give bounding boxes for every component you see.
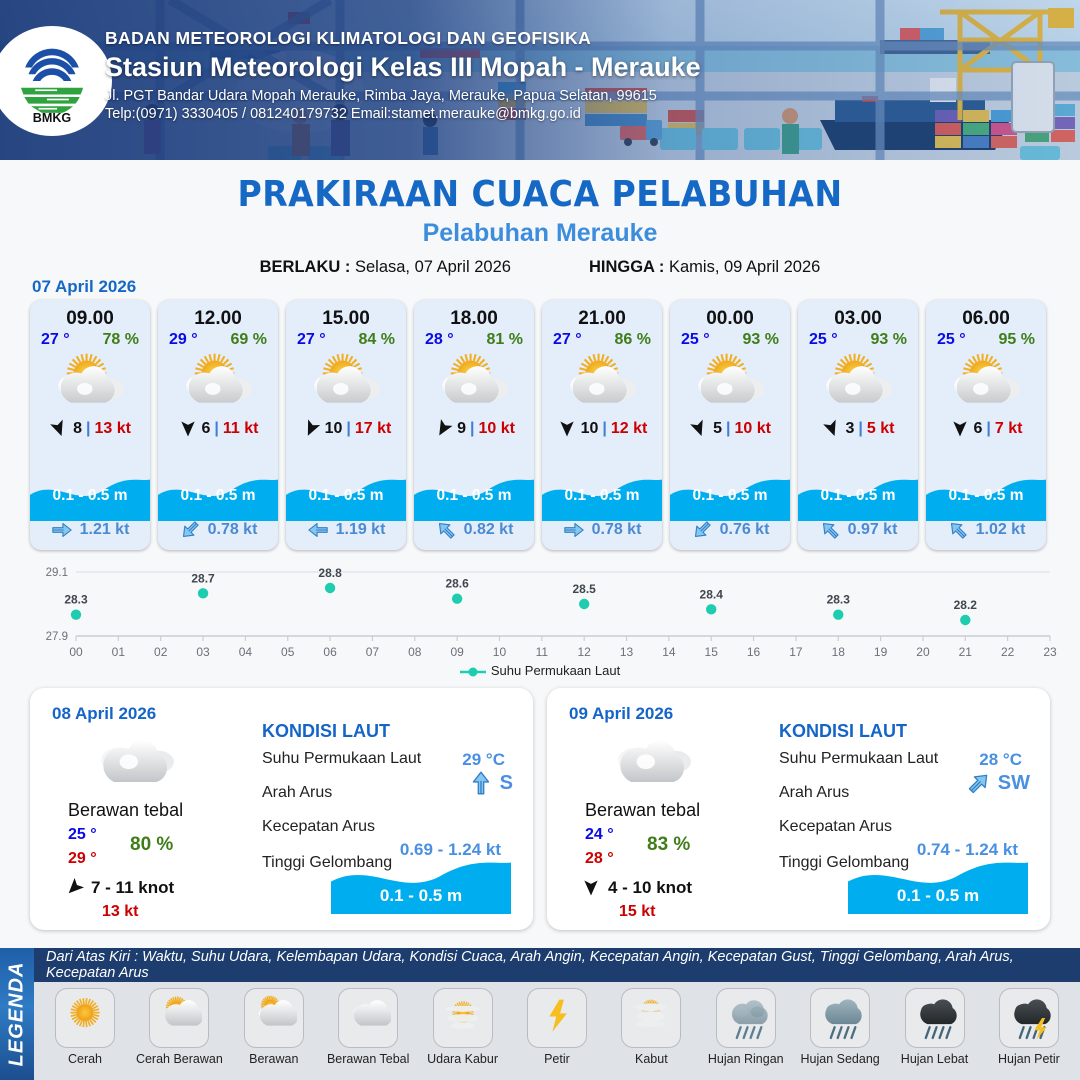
card-humidity: 78 % <box>103 331 139 349</box>
header-text-block: BADAN METEOROLOGI KLIMATOLOGI DAN GEOFIS… <box>105 28 701 122</box>
bmkg-logo-icon: BMKG <box>10 39 94 123</box>
card-gust: 11 kt <box>223 420 259 438</box>
daily-temp-max: 29 ° <box>68 850 97 868</box>
daily-panel: 08 April 2026 Berawan tebal 25 ° 29 ° 80… <box>30 688 533 930</box>
card-time: 12.00 <box>158 308 278 330</box>
svg-text:10: 10 <box>493 645 507 659</box>
chart-legend: Suhu Permukaan Laut <box>0 663 1080 678</box>
svg-text:28.3: 28.3 <box>64 593 88 607</box>
card-current-speed: 0.78 kt <box>208 521 258 539</box>
legend-item-label: Berawan Tebal <box>323 1052 413 1066</box>
card-wind-row: 6 | 11 kt <box>158 418 278 440</box>
legend-sidebar: LEGENDA <box>0 948 34 1080</box>
daily-wind-row: 4 - 10 knot <box>581 878 692 898</box>
current-speed-value: 0.69 - 1.24 kt <box>400 840 501 860</box>
card-current-speed: 1.02 kt <box>976 521 1026 539</box>
wind-direction-icon <box>950 419 970 439</box>
card-gust: 12 kt <box>611 420 647 438</box>
card-temperature: 27 ° <box>297 331 326 349</box>
hingga-label: HINGGA : <box>589 258 664 276</box>
current-direction-icon <box>51 519 73 541</box>
cerah-berawan-icon <box>47 351 133 413</box>
forecast-card: 21.00 27 ° 86 % 10 | 12 kt 0.1 - 0.5 m <box>542 300 662 550</box>
legend-icon-box <box>149 988 209 1048</box>
card-temp-hum-row: 25 ° 95 % <box>926 330 1046 349</box>
forecast-card: 03.00 25 ° 93 % 3 | 5 kt 0.1 - 0.5 m <box>798 300 918 550</box>
card-time: 06.00 <box>926 308 1046 330</box>
legend-item-label: Hujan Ringan <box>701 1052 791 1066</box>
card-current-row: 0.78 kt <box>158 519 278 541</box>
sst-chart: 29.127.900010203040506070809101112131415… <box>20 558 1060 678</box>
wind-direction-icon <box>178 419 198 439</box>
svg-text:11: 11 <box>536 645 549 659</box>
legend-item-label: Cerah Berawan <box>134 1052 224 1066</box>
svg-text:16: 16 <box>747 645 761 659</box>
current-direction-label: Arah Arus <box>262 784 332 802</box>
svg-text:15: 15 <box>705 645 719 659</box>
daily-date: 08 April 2026 <box>52 704 156 724</box>
current-speed-value: 0.74 - 1.24 kt <box>917 840 1018 860</box>
svg-text:12: 12 <box>577 645 591 659</box>
legend-item-label: Hujan Lebat <box>890 1052 980 1066</box>
card-wave-height: 0.1 - 0.5 m <box>286 487 406 505</box>
card-humidity: 84 % <box>359 331 395 349</box>
legend-item-label: Hujan Sedang <box>795 1052 885 1066</box>
berlaku-label: BERLAKU : <box>260 258 351 276</box>
page-subtitle: Pelabuhan Merauke <box>0 219 1080 248</box>
moderate-rain-icon <box>817 995 863 1041</box>
current-direction-icon <box>174 514 205 545</box>
card-separator: | <box>470 420 474 438</box>
svg-text:03: 03 <box>196 645 210 659</box>
svg-text:28.3: 28.3 <box>827 593 851 607</box>
cerah-berawan-icon <box>943 351 1029 413</box>
legend-icon-box <box>999 988 1059 1048</box>
title-block: PRAKIRAAN CUACA PELABUHAN Pelabuhan Mera… <box>0 160 1080 277</box>
series-marker-icon <box>460 666 486 678</box>
daily-weather-icon <box>609 736 701 798</box>
svg-text:01: 01 <box>112 645 126 659</box>
station-name: Stasiun Meteorologi Kelas III Mopah - Me… <box>105 52 701 83</box>
legend-icon-box <box>905 988 965 1048</box>
card-wind-row: 3 | 5 kt <box>798 418 918 440</box>
card-time: 09.00 <box>30 308 150 330</box>
legend-item: Hujan Ringan <box>701 988 791 1066</box>
card-current-speed: 1.19 kt <box>336 521 386 539</box>
card-weather-icon <box>798 351 918 413</box>
thunderstorm-icon <box>1006 995 1052 1041</box>
clouds-icon <box>345 995 391 1041</box>
svg-text:28.6: 28.6 <box>445 577 469 591</box>
card-wind-row: 8 | 13 kt <box>30 418 150 440</box>
card-wave-height: 0.1 - 0.5 m <box>926 487 1046 505</box>
card-current-row: 0.78 kt <box>542 519 662 541</box>
legend-icon-box <box>716 988 776 1048</box>
page-title: PRAKIRAAN CUACA PELABUHAN <box>43 174 1037 215</box>
svg-text:20: 20 <box>916 645 930 659</box>
legend-item: Petir <box>512 988 602 1066</box>
legend-item: Berawan <box>229 988 319 1066</box>
cerah-berawan-icon <box>431 351 517 413</box>
card-current-speed: 1.21 kt <box>80 521 130 539</box>
sea-conditions-title: KONDISI LAUT <box>779 721 907 742</box>
card-wave-height: 0.1 - 0.5 m <box>542 487 662 505</box>
legend-item: Cerah Berawan <box>134 988 224 1066</box>
daily-wind-row: 7 - 11 knot <box>64 878 174 898</box>
daily-forecast-row: 08 April 2026 Berawan tebal 25 ° 29 ° 80… <box>30 688 1050 930</box>
forecast-card: 09.00 27 ° 78 % 8 | 13 kt 0.1 - 0.5 m <box>30 300 150 550</box>
wind-direction-icon <box>557 419 577 439</box>
forecast-card: 00.00 25 ° 93 % 5 | 10 kt 0.1 - 0.5 m <box>670 300 790 550</box>
card-wind-speed: 10 <box>325 420 343 438</box>
card-humidity: 93 % <box>871 331 907 349</box>
legend-item: Berawan Tebal <box>323 988 413 1066</box>
current-direction-value: S <box>468 770 513 796</box>
card-weather-icon <box>30 351 150 413</box>
card-temperature: 29 ° <box>169 331 198 349</box>
card-time: 15.00 <box>286 308 406 330</box>
card-wind-row: 5 | 10 kt <box>670 418 790 440</box>
card-temp-hum-row: 28 ° 81 % <box>414 330 534 349</box>
heavy-rain-icon <box>912 995 958 1041</box>
legend-item-label: Petir <box>512 1052 602 1066</box>
card-temperature: 27 ° <box>41 331 70 349</box>
legend-body: Dari Atas Kiri : Waktu, Suhu Udara, Kele… <box>34 948 1080 1080</box>
card-time: 21.00 <box>542 308 662 330</box>
current-direction-icon <box>686 514 717 545</box>
card-temp-hum-row: 25 ° 93 % <box>670 330 790 349</box>
forecast-card: 15.00 27 ° 84 % 10 | 17 kt 0.1 - 0.5 m <box>286 300 406 550</box>
current-direction-value: SW <box>966 770 1030 796</box>
wind-direction-icon <box>819 416 845 442</box>
cerah-berawan-icon <box>303 351 389 413</box>
station-address: Jl. PGT Bandar Udara Mopah Merauke, Rimb… <box>105 88 701 104</box>
haze-icon <box>440 995 486 1041</box>
daily-condition: Berawan tebal <box>585 800 700 821</box>
card-wind-speed: 9 <box>457 420 466 438</box>
berlaku-value: Selasa, 07 April 2026 <box>355 258 511 276</box>
card-wave-height: 0.1 - 0.5 m <box>798 487 918 505</box>
chart-legend-label: Suhu Permukaan Laut <box>491 663 620 678</box>
card-wave-height: 0.1 - 0.5 m <box>158 487 278 505</box>
legend-item-label: Berawan <box>229 1052 319 1066</box>
legend-icon-box <box>55 988 115 1048</box>
legend-items: Cerah Cerah Berawan Berawan Berawan Teba… <box>34 982 1080 1066</box>
hingga-group: HINGGA : Kamis, 09 April 2026 <box>589 258 820 277</box>
current-direction-label: Arah Arus <box>779 784 849 802</box>
current-direction-icon <box>563 519 585 541</box>
legend-icon-box <box>810 988 870 1048</box>
current-direction-icon <box>942 514 973 545</box>
agency-name: BADAN METEOROLOGI KLIMATOLOGI DAN GEOFIS… <box>105 28 701 49</box>
svg-text:28.5: 28.5 <box>572 582 596 596</box>
current-direction-icon <box>307 519 329 541</box>
legend-icon-box <box>433 988 493 1048</box>
svg-text:29.1: 29.1 <box>46 567 68 579</box>
daily-weather-icon <box>92 736 184 798</box>
card-current-row: 1.21 kt <box>30 519 150 541</box>
lightning-icon <box>534 995 580 1041</box>
light-rain-icon <box>723 995 769 1041</box>
card-weather-icon <box>542 351 662 413</box>
svg-text:23: 23 <box>1043 645 1057 659</box>
berawan-tebal-icon <box>609 736 701 793</box>
card-current-speed: 0.78 kt <box>592 521 642 539</box>
svg-text:28.8: 28.8 <box>318 566 342 580</box>
card-weather-icon <box>414 351 534 413</box>
svg-text:00: 00 <box>69 645 83 659</box>
wind-direction-icon <box>581 878 601 898</box>
wind-direction-icon <box>429 415 456 442</box>
cerah-berawan-icon <box>687 351 773 413</box>
card-temp-hum-row: 25 ° 93 % <box>798 330 918 349</box>
card-wind-speed: 6 <box>974 420 983 438</box>
daily-gust: 15 kt <box>619 903 655 921</box>
daily-temp-min: 25 ° <box>68 826 97 844</box>
card-current-row: 1.02 kt <box>926 519 1046 541</box>
daily-wind-range: 4 - 10 knot <box>608 878 692 898</box>
current-speed-label: Kecepatan Arus <box>262 818 375 836</box>
card-time: 00.00 <box>670 308 790 330</box>
card-separator: | <box>346 420 350 438</box>
current-direction-text: S <box>500 772 513 795</box>
card-wind-row: 9 | 10 kt <box>414 418 534 440</box>
card-separator: | <box>858 420 862 438</box>
wind-direction-icon <box>60 874 88 902</box>
svg-text:06: 06 <box>323 645 337 659</box>
legend-section: LEGENDA Dari Atas Kiri : Waktu, Suhu Uda… <box>0 948 1080 1080</box>
wind-direction-icon <box>686 416 712 442</box>
card-wind-speed: 6 <box>202 420 211 438</box>
card-wind-speed: 10 <box>581 420 599 438</box>
svg-text:22: 22 <box>1001 645 1015 659</box>
sun-cloud-icon <box>156 995 202 1041</box>
card-separator: | <box>214 420 218 438</box>
svg-text:13: 13 <box>620 645 634 659</box>
card-temperature: 27 ° <box>553 331 582 349</box>
card-humidity: 95 % <box>999 331 1035 349</box>
card-wave-height: 0.1 - 0.5 m <box>414 487 534 505</box>
svg-text:28.7: 28.7 <box>191 571 215 585</box>
card-gust: 5 kt <box>867 420 895 438</box>
card-current-row: 0.97 kt <box>798 519 918 541</box>
svg-text:04: 04 <box>239 645 253 659</box>
daily-humidity: 80 % <box>130 834 173 856</box>
card-temperature: 25 ° <box>809 331 838 349</box>
sst-value: 29 °C <box>462 750 505 770</box>
cerah-berawan-icon <box>175 351 261 413</box>
card-weather-icon <box>670 351 790 413</box>
wind-direction-icon <box>46 416 72 442</box>
card-separator: | <box>602 420 606 438</box>
card-temp-hum-row: 27 ° 86 % <box>542 330 662 349</box>
current-direction-text: SW <box>998 772 1030 795</box>
card-wind-row: 10 | 17 kt <box>286 418 406 440</box>
card-separator: | <box>86 420 90 438</box>
card-weather-icon <box>926 351 1046 413</box>
card-wind-row: 6 | 7 kt <box>926 418 1046 440</box>
forecast-card: 18.00 28 ° 81 % 9 | 10 kt 0.1 - 0.5 m <box>414 300 534 550</box>
card-current-speed: 0.76 kt <box>720 521 770 539</box>
daily-gust: 13 kt <box>102 903 138 921</box>
validity-row: BERLAKU : Selasa, 07 April 2026 HINGGA :… <box>0 258 1080 277</box>
card-weather-icon <box>286 351 406 413</box>
legend-item: Hujan Lebat <box>890 988 980 1066</box>
card-wind-speed: 3 <box>846 420 855 438</box>
current-direction-icon <box>468 770 494 796</box>
card-gust: 17 kt <box>355 420 391 438</box>
card-separator: | <box>986 420 990 438</box>
berawan-tebal-icon <box>92 736 184 793</box>
card-weather-icon <box>158 351 278 413</box>
legend-item-label: Hujan Petir <box>984 1052 1074 1066</box>
daily-humidity: 83 % <box>647 834 690 856</box>
legend-item: Hujan Sedang <box>795 988 885 1066</box>
cerah-berawan-icon <box>559 351 645 413</box>
forecast-date-label: 07 April 2026 <box>32 277 136 297</box>
page-header: BMKG BADAN METEOROLOGI KLIMATOLOGI DAN G… <box>0 0 1080 160</box>
legend-item: Cerah <box>40 988 130 1066</box>
card-temperature: 25 ° <box>681 331 710 349</box>
svg-text:17: 17 <box>789 645 803 659</box>
svg-text:14: 14 <box>662 645 676 659</box>
current-direction-icon <box>960 765 997 802</box>
card-current-speed: 0.82 kt <box>464 521 514 539</box>
card-humidity: 93 % <box>743 331 779 349</box>
daily-panel: 09 April 2026 Berawan tebal 24 ° 28 ° 83… <box>547 688 1050 930</box>
svg-text:21: 21 <box>959 645 973 659</box>
legend-item: Udara Kabur <box>418 988 508 1066</box>
card-gust: 10 kt <box>478 420 514 438</box>
card-wave-height: 0.1 - 0.5 m <box>670 487 790 505</box>
daily-temp-max: 28 ° <box>585 850 614 868</box>
card-temperature: 28 ° <box>425 331 454 349</box>
card-humidity: 81 % <box>487 331 523 349</box>
current-direction-icon <box>430 514 461 545</box>
sst-label: Suhu Permukaan Laut <box>262 750 421 768</box>
legend-item-label: Cerah <box>40 1052 130 1066</box>
legend-icon-box <box>338 988 398 1048</box>
card-time: 18.00 <box>414 308 534 330</box>
legend-item-label: Udara Kabur <box>418 1052 508 1066</box>
legend-item: Hujan Petir <box>984 988 1074 1066</box>
forecast-card: 12.00 29 ° 69 % 6 | 11 kt 0.1 - 0.5 m <box>158 300 278 550</box>
station-contact: Telp:(0971) 3330405 / 081240179732 Email… <box>105 106 701 122</box>
card-humidity: 69 % <box>231 331 267 349</box>
daily-condition: Berawan tebal <box>68 800 183 821</box>
legend-icon-box <box>621 988 681 1048</box>
card-humidity: 86 % <box>615 331 651 349</box>
svg-text:28.4: 28.4 <box>700 587 724 601</box>
forecast-card: 06.00 25 ° 95 % 6 | 7 kt 0.1 - 0.5 m <box>926 300 1046 550</box>
card-gust: 10 kt <box>734 420 770 438</box>
cerah-berawan-icon <box>815 351 901 413</box>
svg-text:18: 18 <box>832 645 846 659</box>
daily-wave-height: 0.1 - 0.5 m <box>331 886 511 906</box>
card-current-speed: 0.97 kt <box>848 521 898 539</box>
card-current-row: 0.82 kt <box>414 519 534 541</box>
legend-caption: Dari Atas Kiri : Waktu, Suhu Udara, Kele… <box>34 948 1080 982</box>
legend-item: Kabut <box>606 988 696 1066</box>
legend-icon-box <box>527 988 587 1048</box>
card-temp-hum-row: 29 ° 69 % <box>158 330 278 349</box>
svg-text:27.9: 27.9 <box>46 631 68 643</box>
svg-text:09: 09 <box>450 645 464 659</box>
svg-text:05: 05 <box>281 645 295 659</box>
card-temp-hum-row: 27 ° 78 % <box>30 330 150 349</box>
svg-text:BMKG: BMKG <box>33 111 72 123</box>
sst-chart-svg: 29.127.900010203040506070809101112131415… <box>20 558 1060 678</box>
card-current-row: 1.19 kt <box>286 519 406 541</box>
cloud-sun-icon <box>251 995 297 1041</box>
svg-text:28.2: 28.2 <box>954 598 978 612</box>
current-speed-label: Kecepatan Arus <box>779 818 892 836</box>
wind-direction-icon <box>297 416 324 443</box>
card-temperature: 25 ° <box>937 331 966 349</box>
card-current-row: 0.76 kt <box>670 519 790 541</box>
card-wind-row: 10 | 12 kt <box>542 418 662 440</box>
legend-item-label: Kabut <box>606 1052 696 1066</box>
current-direction-icon <box>814 514 845 545</box>
daily-date: 09 April 2026 <box>569 704 673 724</box>
legend-icon-box <box>244 988 304 1048</box>
card-wind-speed: 8 <box>73 420 82 438</box>
card-time: 03.00 <box>798 308 918 330</box>
daily-temp-min: 24 ° <box>585 826 614 844</box>
card-wave-height: 0.1 - 0.5 m <box>30 487 150 505</box>
sst-label: Suhu Permukaan Laut <box>779 750 938 768</box>
berlaku-group: BERLAKU : Selasa, 07 April 2026 <box>260 258 511 277</box>
card-temp-hum-row: 27 ° 84 % <box>286 330 406 349</box>
daily-wind-range: 7 - 11 knot <box>91 878 174 898</box>
card-gust: 7 kt <box>995 420 1023 438</box>
card-separator: | <box>726 420 730 438</box>
daily-wave-height: 0.1 - 0.5 m <box>848 886 1028 906</box>
card-wind-speed: 5 <box>713 420 722 438</box>
svg-text:07: 07 <box>366 645 380 659</box>
hourly-forecast-row: 09.00 27 ° 78 % 8 | 13 kt 0.1 - 0.5 m <box>30 300 1050 550</box>
fog-icon <box>628 995 674 1041</box>
legend-sidebar-label: LEGENDA <box>6 962 29 1067</box>
svg-text:08: 08 <box>408 645 422 659</box>
svg-text:02: 02 <box>154 645 168 659</box>
card-gust: 13 kt <box>94 420 130 438</box>
sst-value: 28 °C <box>979 750 1022 770</box>
sea-conditions-title: KONDISI LAUT <box>262 721 390 742</box>
svg-text:19: 19 <box>874 645 888 659</box>
sun-icon <box>62 995 108 1041</box>
hingga-value: Kamis, 09 April 2026 <box>669 258 820 276</box>
